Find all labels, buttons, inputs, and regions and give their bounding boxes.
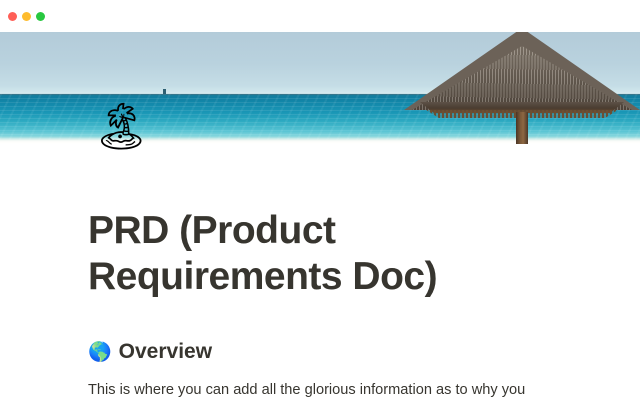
minimize-window-button[interactable] [22,12,31,21]
document-app-window: 🏝 PRD (Product Requirements Doc) 🌎 Overv… [0,0,640,400]
palapa-umbrella [404,32,640,144]
globe-americas-icon: 🌎 [88,343,112,362]
page-title[interactable]: PRD (Product Requirements Doc) [88,144,552,300]
palapa-post [516,112,528,144]
distant-boat [163,89,166,94]
section-heading-label: Overview [119,338,212,366]
window-traffic-lights [8,12,45,21]
section-paragraph-overview[interactable]: This is where you can add all the glorio… [88,366,550,400]
close-window-button[interactable] [8,12,17,21]
desert-island-icon[interactable]: 🏝 [92,103,150,149]
window-title-bar [0,0,640,32]
section-heading-overview[interactable]: 🌎 Overview [88,300,552,366]
maximize-window-button[interactable] [36,12,45,21]
document-body: PRD (Product Requirements Doc) 🌎 Overvie… [0,144,640,400]
